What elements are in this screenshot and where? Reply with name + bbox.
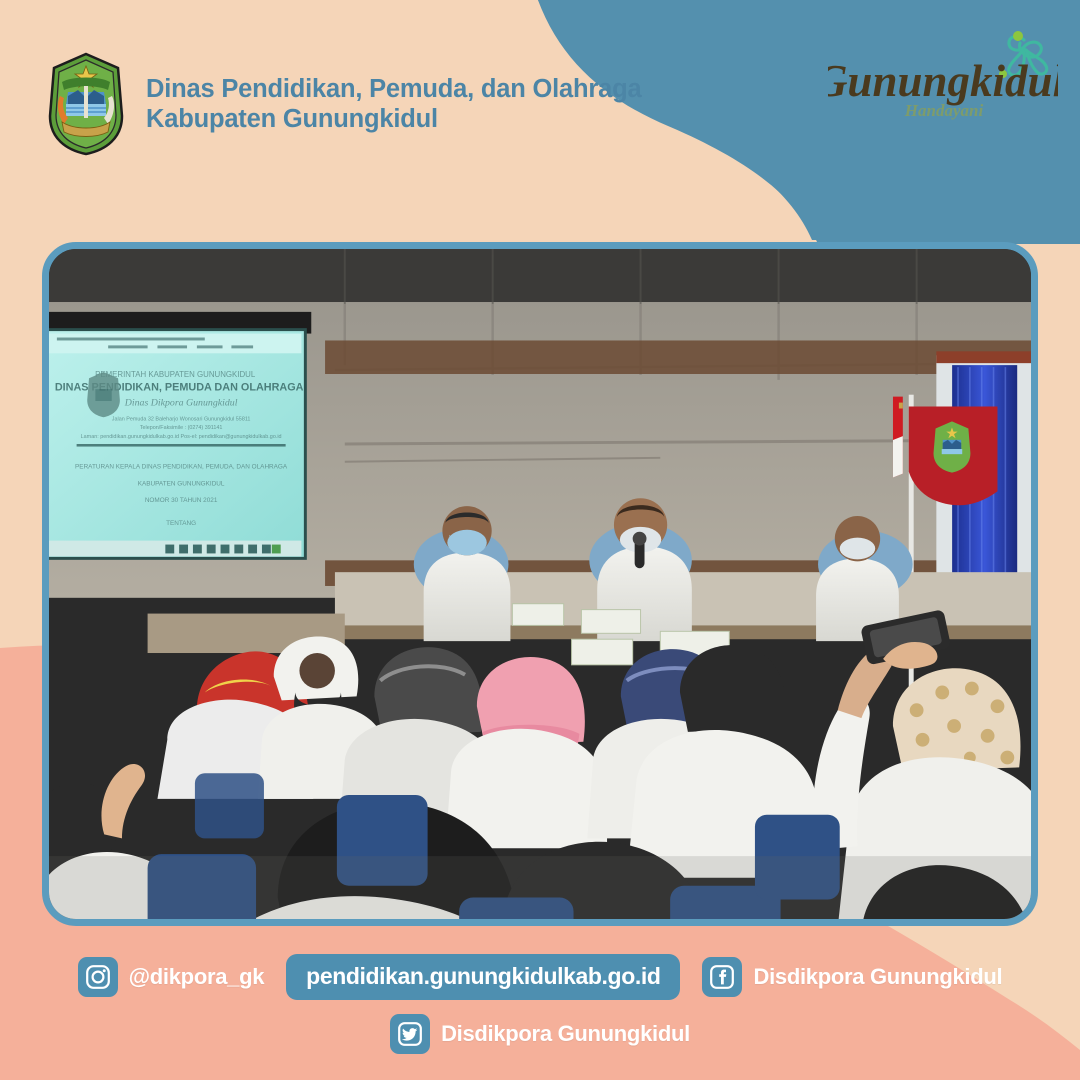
footer-social-bar: @dikpora_gk pendidikan.gunungkidulkab.go… [0, 954, 1080, 1054]
svg-text:Jalan Pemuda 32 Baleharjo Wono: Jalan Pemuda 32 Baleharjo Wonosari Gunun… [112, 416, 251, 422]
svg-text:PERATURAN KEPALA DINAS PENDIDI: PERATURAN KEPALA DINAS PENDIDIKAN, PEMUD… [75, 464, 288, 471]
svg-text:Laman: pendidikan.gunungkidulk: Laman: pendidikan.gunungkidulkab.go.id P… [81, 434, 282, 440]
header-title-line2: Kabupaten Gunungkidul [146, 104, 641, 134]
twitter-handle: Disdikpora Gunungkidul [441, 1021, 690, 1047]
gunungkidul-regency-crest-icon [44, 52, 128, 156]
svg-text:NOMOR 30 TAHUN 2021: NOMOR 30 TAHUN 2021 [145, 497, 218, 504]
header-title-block: Dinas Pendidikan, Pemuda, dan Olahraga K… [146, 74, 641, 134]
svg-text:TENTANG: TENTANG [166, 520, 196, 527]
tourism-tagline: Handayani [904, 101, 984, 120]
twitter-icon[interactable] [390, 1014, 430, 1054]
svg-text:Dinas Dikpora Gunungkidul: Dinas Dikpora Gunungkidul [124, 398, 238, 409]
facebook-link[interactable]: Disdikpora Gunungkidul [702, 957, 1002, 997]
footer-row-secondary: Disdikpora Gunungkidul [0, 1014, 1080, 1054]
footer-row-primary: @dikpora_gk pendidikan.gunungkidulkab.go… [0, 954, 1080, 1000]
instagram-handle: @dikpora_gk [129, 964, 265, 990]
gunungkidul-handayani-logo: Gunungkidul Handayani [828, 22, 1058, 130]
svg-text:KABUPATEN GUNUNGKIDUL: KABUPATEN GUNUNGKIDUL [138, 480, 225, 487]
facebook-icon[interactable] [702, 957, 742, 997]
svg-text:PEMERINTAH KABUPATEN GUNUNGKID: PEMERINTAH KABUPATEN GUNUNGKIDUL [95, 370, 256, 379]
header: Dinas Pendidikan, Pemuda, dan Olahraga K… [44, 52, 641, 156]
facebook-page-name: Disdikpora Gunungkidul [753, 964, 1002, 990]
poster-canvas: Dinas Pendidikan, Pemuda, dan Olahraga K… [0, 0, 1080, 1080]
instagram-icon[interactable] [78, 957, 118, 997]
instagram-link[interactable]: @dikpora_gk [78, 957, 265, 997]
website-button[interactable]: pendidikan.gunungkidulkab.go.id [286, 954, 680, 1000]
meeting-room-photo: PEMERINTAH KABUPATEN GUNUNGKIDUL DINAS P… [42, 242, 1038, 926]
tourism-wordmark: Gunungkidul [828, 56, 1058, 106]
header-title-line1: Dinas Pendidikan, Pemuda, dan Olahraga [146, 74, 641, 104]
svg-text:Telepon/Faksimile : (0274) 391: Telepon/Faksimile : (0274) 391141 [140, 425, 223, 431]
twitter-link[interactable]: Disdikpora Gunungkidul [390, 1014, 690, 1054]
